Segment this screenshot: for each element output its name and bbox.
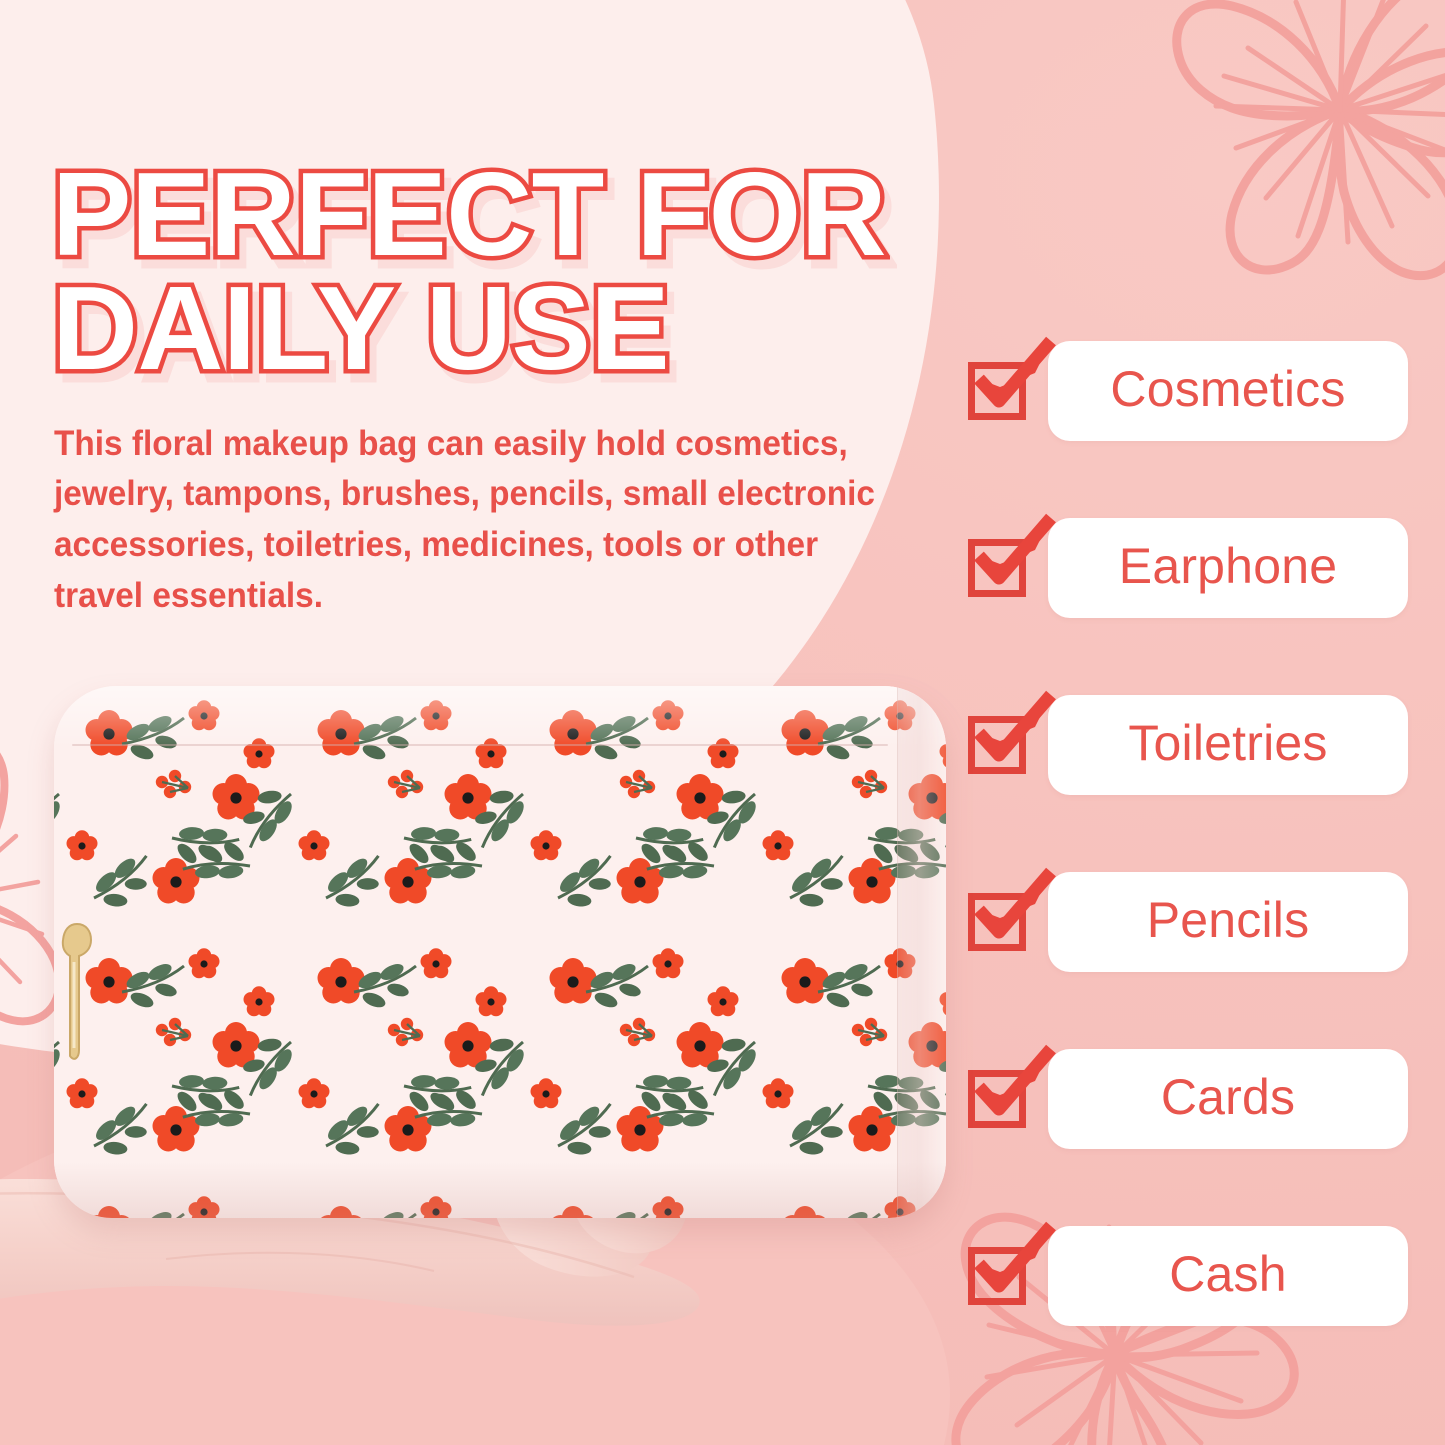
bag-bottom-shading xyxy=(54,1162,946,1218)
checklist-item[interactable]: Earphone xyxy=(968,509,1408,627)
checkbox-checked-icon[interactable] xyxy=(968,893,1026,951)
checklist-item[interactable]: Cosmetics xyxy=(968,332,1408,450)
checklist-label: Cosmetics xyxy=(1110,364,1345,418)
checklist-item[interactable]: Cards xyxy=(968,1040,1408,1158)
checklist-label: Toiletries xyxy=(1128,718,1327,772)
checkbox-checked-icon[interactable] xyxy=(968,1070,1026,1128)
checklist-label: Cards xyxy=(1161,1072,1295,1126)
checklist-label: Pencils xyxy=(1147,895,1310,949)
checklist-label-pill: Cards xyxy=(1048,1049,1408,1149)
bag-seam xyxy=(72,744,888,746)
checklist-label: Earphone xyxy=(1119,541,1337,595)
checklist-item[interactable]: Toiletries xyxy=(968,686,1408,804)
page-title-line-1: PERFECT FOR xyxy=(52,148,886,281)
feature-checklist: Cosmetics Earphone Toiletr xyxy=(968,332,1408,1335)
checklist-label-pill: Cash xyxy=(1048,1226,1408,1326)
floral-pattern xyxy=(54,686,946,1218)
checklist-label-pill: Cosmetics xyxy=(1048,341,1408,441)
checklist-item[interactable]: Pencils xyxy=(968,863,1408,981)
checklist-label-pill: Toiletries xyxy=(1048,695,1408,795)
page-title: PERFECT FOR DAILY USE xyxy=(52,158,992,386)
page-title-line-2: DAILY USE xyxy=(52,272,992,386)
makeup-bag xyxy=(54,686,946,1218)
checklist-label: Cash xyxy=(1169,1249,1287,1303)
checkbox-checked-icon[interactable] xyxy=(968,716,1026,774)
checkbox-checked-icon[interactable] xyxy=(968,1247,1026,1305)
checklist-label-pill: Earphone xyxy=(1048,518,1408,618)
description-paragraph: This floral makeup bag can easily hold c… xyxy=(54,418,905,621)
product-photo xyxy=(26,686,926,1246)
checkbox-checked-icon[interactable] xyxy=(968,362,1026,420)
checklist-item[interactable]: Cash xyxy=(968,1217,1408,1335)
product-infographic: PERFECT FOR DAILY USE This floral makeup… xyxy=(0,0,1445,1445)
bag-top-highlight xyxy=(54,686,946,748)
bag-side-gusset xyxy=(897,686,946,1218)
checklist-label-pill: Pencils xyxy=(1048,872,1408,972)
checkbox-checked-icon[interactable] xyxy=(968,539,1026,597)
zipper-pull-icon xyxy=(60,918,94,1068)
